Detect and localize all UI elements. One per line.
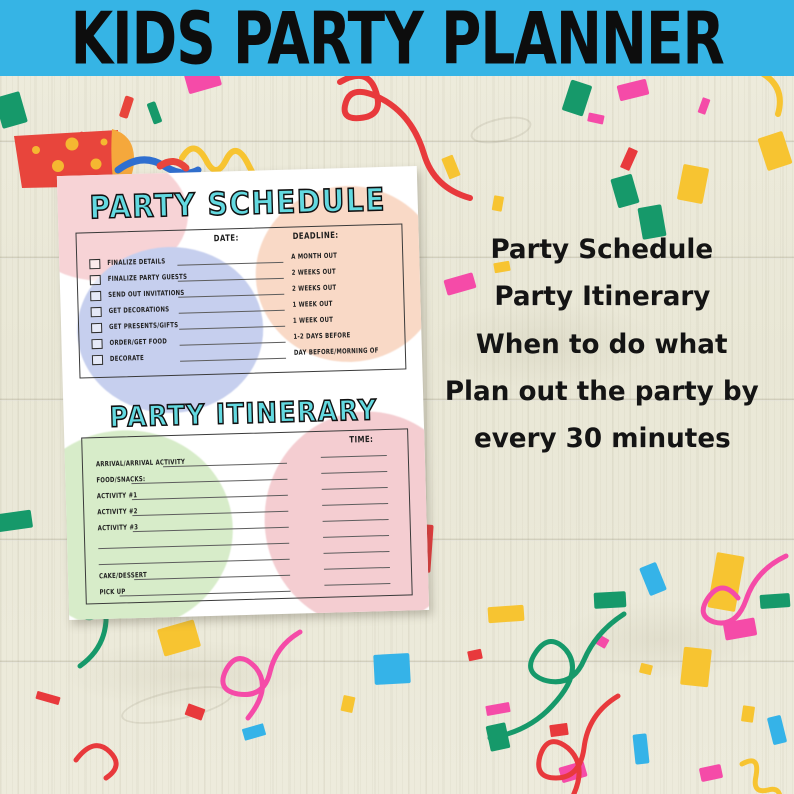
schedule-deadline-value: 1 WEEK OUT [293, 317, 333, 326]
schedule-checkbox[interactable] [90, 275, 101, 285]
schedule-checkbox[interactable] [91, 339, 102, 349]
schedule-row[interactable]: DECORATE [92, 354, 144, 365]
schedule-task-label: FINALIZE DETAILS [107, 258, 165, 267]
schedule-task-label: SEND OUT INVITATIONS [108, 290, 185, 300]
schedule-checkbox[interactable] [90, 291, 101, 301]
feature-line: Plan out the party by [445, 378, 759, 406]
schedule-checkbox[interactable] [89, 259, 100, 269]
feature-text-block: Party Schedule Party Itinerary When to d… [416, 236, 788, 454]
schedule-row[interactable]: FINALIZE DETAILS [89, 257, 165, 269]
schedule-deadline-value: 1 WEEK OUT [292, 301, 332, 310]
schedule-task-label: GET PRESENTS/GIFTS [109, 322, 178, 332]
schedule-task-label: ORDER/GET FOOD [109, 338, 167, 347]
schedule-deadline-value: 2 WEEKS OUT [292, 284, 336, 293]
poster-title: KIDS PARTY PLANNER [70, 2, 723, 74]
planner-page: PARTY SCHEDULE DATE: DEADLINE: FINALIZE … [57, 166, 429, 620]
schedule-date-header: DATE: [214, 233, 239, 244]
itinerary-time-header: TIME: [349, 434, 373, 445]
feature-line: every 30 minutes [474, 425, 731, 453]
schedule-row[interactable]: ORDER/GET FOOD [91, 337, 167, 349]
schedule-task-label: DECORATE [110, 355, 144, 364]
feature-line: Party Schedule [491, 236, 714, 264]
planner-page-inner: PARTY SCHEDULE DATE: DEADLINE: FINALIZE … [57, 166, 429, 620]
feature-line: When to do what [476, 331, 728, 359]
schedule-deadline-value: 1-2 DAYS BEFORE [293, 332, 350, 341]
poster-canvas: KIDS PARTY PLANNER [0, 0, 794, 794]
banner: KIDS PARTY PLANNER [0, 0, 794, 76]
schedule-deadline-value: 2 WEEKS OUT [292, 268, 336, 277]
schedule-deadline-header: DEADLINE: [293, 230, 339, 241]
schedule-checkbox[interactable] [91, 307, 102, 317]
schedule-task-label: FINALIZE PARTY GUESTS [108, 274, 188, 284]
schedule-deadline-value: A MONTH OUT [291, 252, 337, 261]
schedule-checkbox[interactable] [92, 355, 103, 365]
schedule-checkbox[interactable] [91, 323, 102, 333]
feature-line: Party Itinerary [494, 283, 710, 311]
schedule-task-label: GET DECORATIONS [109, 306, 170, 315]
